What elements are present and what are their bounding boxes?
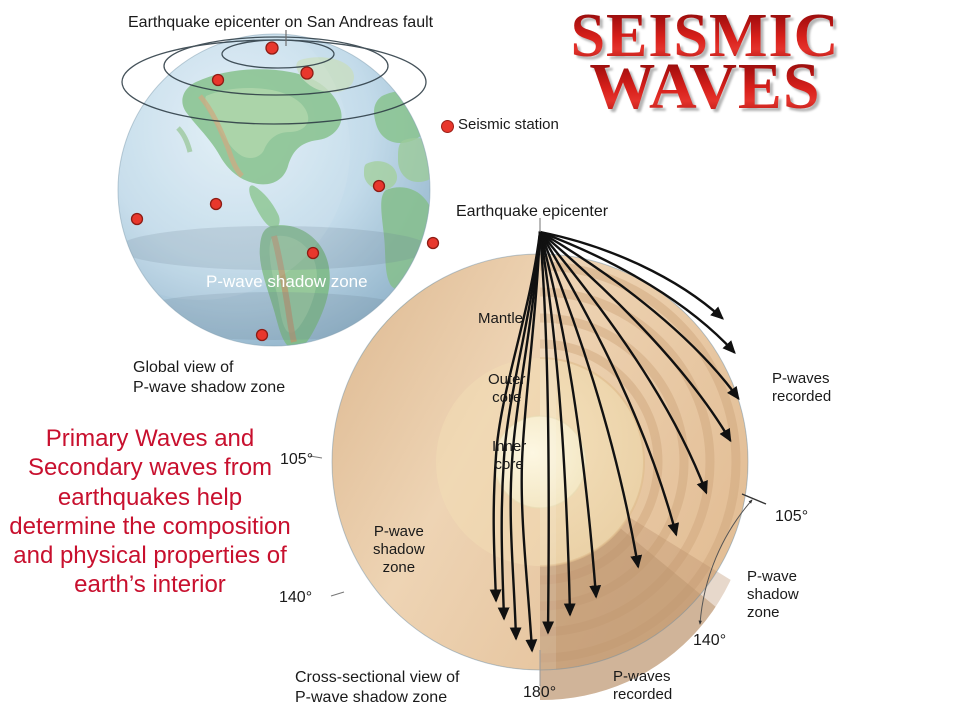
angle-ticks bbox=[742, 494, 766, 504]
caption-cross-sectional-view: Cross-sectional view of P-wave shadow zo… bbox=[295, 668, 460, 707]
label-epicenter-san-andreas: Earthquake epicenter on San Andreas faul… bbox=[128, 14, 433, 32]
caption-global-view: Global view of P-wave shadow zone bbox=[133, 358, 285, 397]
label-angle-180: 180° bbox=[523, 684, 556, 702]
label-mantle: Mantle bbox=[478, 310, 523, 327]
slide-canvas: Seismic Waves Primary Waves and Secondar… bbox=[0, 0, 960, 720]
description-paragraph: Primary Waves and Secondary waves from e… bbox=[2, 424, 298, 600]
label-outer-core: Outer core bbox=[488, 371, 526, 406]
label-p-waves-recorded-bottom: P-waves recorded bbox=[613, 668, 672, 704]
label-inner-core: Inner core bbox=[492, 438, 526, 473]
label-seismic-station-legend: Seismic station bbox=[458, 116, 559, 133]
label-angle-105-right: 105° bbox=[775, 508, 808, 526]
label-angle-105-left: 105° bbox=[280, 451, 313, 469]
label-globe-p-wave-shadow-zone: P-wave shadow zone bbox=[206, 272, 368, 292]
label-cross-shadow-zone: P-wave shadow zone bbox=[373, 523, 425, 577]
label-shadow-zone-right: P-wave shadow zone bbox=[747, 568, 799, 622]
seismic-station-legend-dot bbox=[441, 120, 454, 133]
label-angle-140-left: 140° bbox=[279, 589, 312, 607]
label-p-waves-recorded-right: P-waves recorded bbox=[772, 370, 831, 406]
label-earthquake-epicenter: Earthquake epicenter bbox=[456, 203, 608, 221]
label-angle-140-right: 140° bbox=[693, 632, 726, 650]
